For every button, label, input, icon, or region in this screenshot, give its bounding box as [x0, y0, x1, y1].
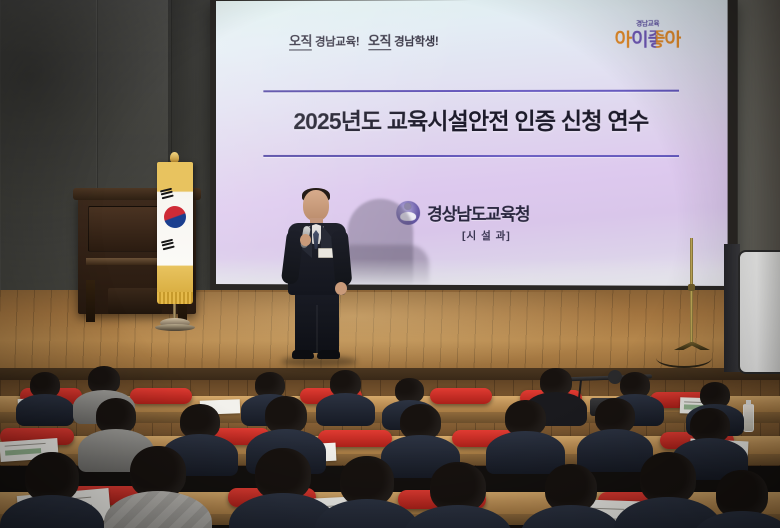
- organization-name: 경상남도교육청: [427, 200, 529, 225]
- audience-member: [400, 404, 441, 440]
- department-name: [시 설 과]: [462, 228, 511, 243]
- equipment-cabinet: [738, 250, 780, 374]
- presenter-trousers: [295, 291, 339, 353]
- audience-member: [130, 446, 186, 498]
- flag-fringe: [157, 292, 193, 304]
- audience-member: [265, 396, 307, 434]
- microphone-stand: [672, 238, 712, 368]
- piano-leg-left: [86, 280, 95, 322]
- audience-member: [255, 448, 311, 500]
- divider-line-top: [263, 90, 679, 93]
- presenter-hand-right: [335, 282, 347, 295]
- slogan-rest-1: 경남교육!: [315, 36, 359, 48]
- audience-member: [716, 470, 768, 518]
- taeguk-symbol-icon: [164, 206, 186, 228]
- flag-base: [155, 324, 195, 331]
- presenter: [277, 190, 359, 366]
- slogan-emphasis-2: 오직: [368, 33, 391, 50]
- presenter-head: [303, 190, 329, 221]
- audience-member: [30, 372, 60, 398]
- taegukgi-flag-icon: [157, 162, 193, 294]
- presenter-hand-left: [300, 234, 311, 246]
- chair: [430, 388, 492, 404]
- mic-stand-joint: [688, 284, 695, 291]
- audience-member: [255, 372, 285, 398]
- audience-member-shoulders: [16, 394, 74, 425]
- water-bottle: [743, 404, 754, 432]
- audience-member: [180, 404, 220, 439]
- slogan-rest-2: 경남학생!: [394, 36, 438, 48]
- trigram-bottom: [161, 239, 175, 252]
- korean-flag-stand: [146, 152, 204, 344]
- slide-title: 2025년도 교육시설안전 인증 신청 연수: [216, 102, 728, 136]
- audience-member: [595, 398, 635, 434]
- slogan-emphasis-1: 오직: [289, 34, 312, 51]
- audience-member: [25, 452, 79, 502]
- audience-member: [88, 366, 120, 394]
- audience-member: [545, 464, 597, 512]
- audience-member: [340, 456, 394, 506]
- organization-block: 경상남도교육청: [396, 200, 529, 225]
- brand-wordmark: 아이좋아: [615, 30, 682, 49]
- audience-member: [430, 462, 486, 512]
- audience-member: [330, 370, 361, 397]
- audience-member: [395, 378, 424, 403]
- audience-member: [620, 372, 650, 398]
- auditorium-photo: 오직 경남교육! 오직 경남학생! 경남교육 아이좋아 2025년도 교육시설안…: [0, 0, 780, 528]
- audience-member: [540, 368, 572, 396]
- audience-member: [690, 408, 730, 443]
- brand-superscript: 경남교육: [636, 20, 659, 27]
- chair: [130, 388, 192, 404]
- presenter-shoe-right: [317, 350, 340, 359]
- audience-member: [505, 400, 546, 436]
- slide-slogan: 오직 경남교육! 오직 경남학생!: [289, 30, 438, 49]
- audience-member: [640, 452, 696, 504]
- presenter-arm-right: [331, 229, 353, 286]
- audience-member: [96, 398, 136, 434]
- audience-member: [700, 382, 730, 408]
- presenter-shoe-left: [292, 350, 314, 359]
- mic-cable: [656, 348, 712, 368]
- audience-member-shoulders: [316, 393, 376, 425]
- mic-stand-pole: [690, 238, 693, 346]
- trigram-top: [160, 188, 174, 201]
- gyeongnam-education-brand-logo: 경남교육 아이좋아: [615, 13, 682, 49]
- divider-line-bottom: [263, 155, 679, 157]
